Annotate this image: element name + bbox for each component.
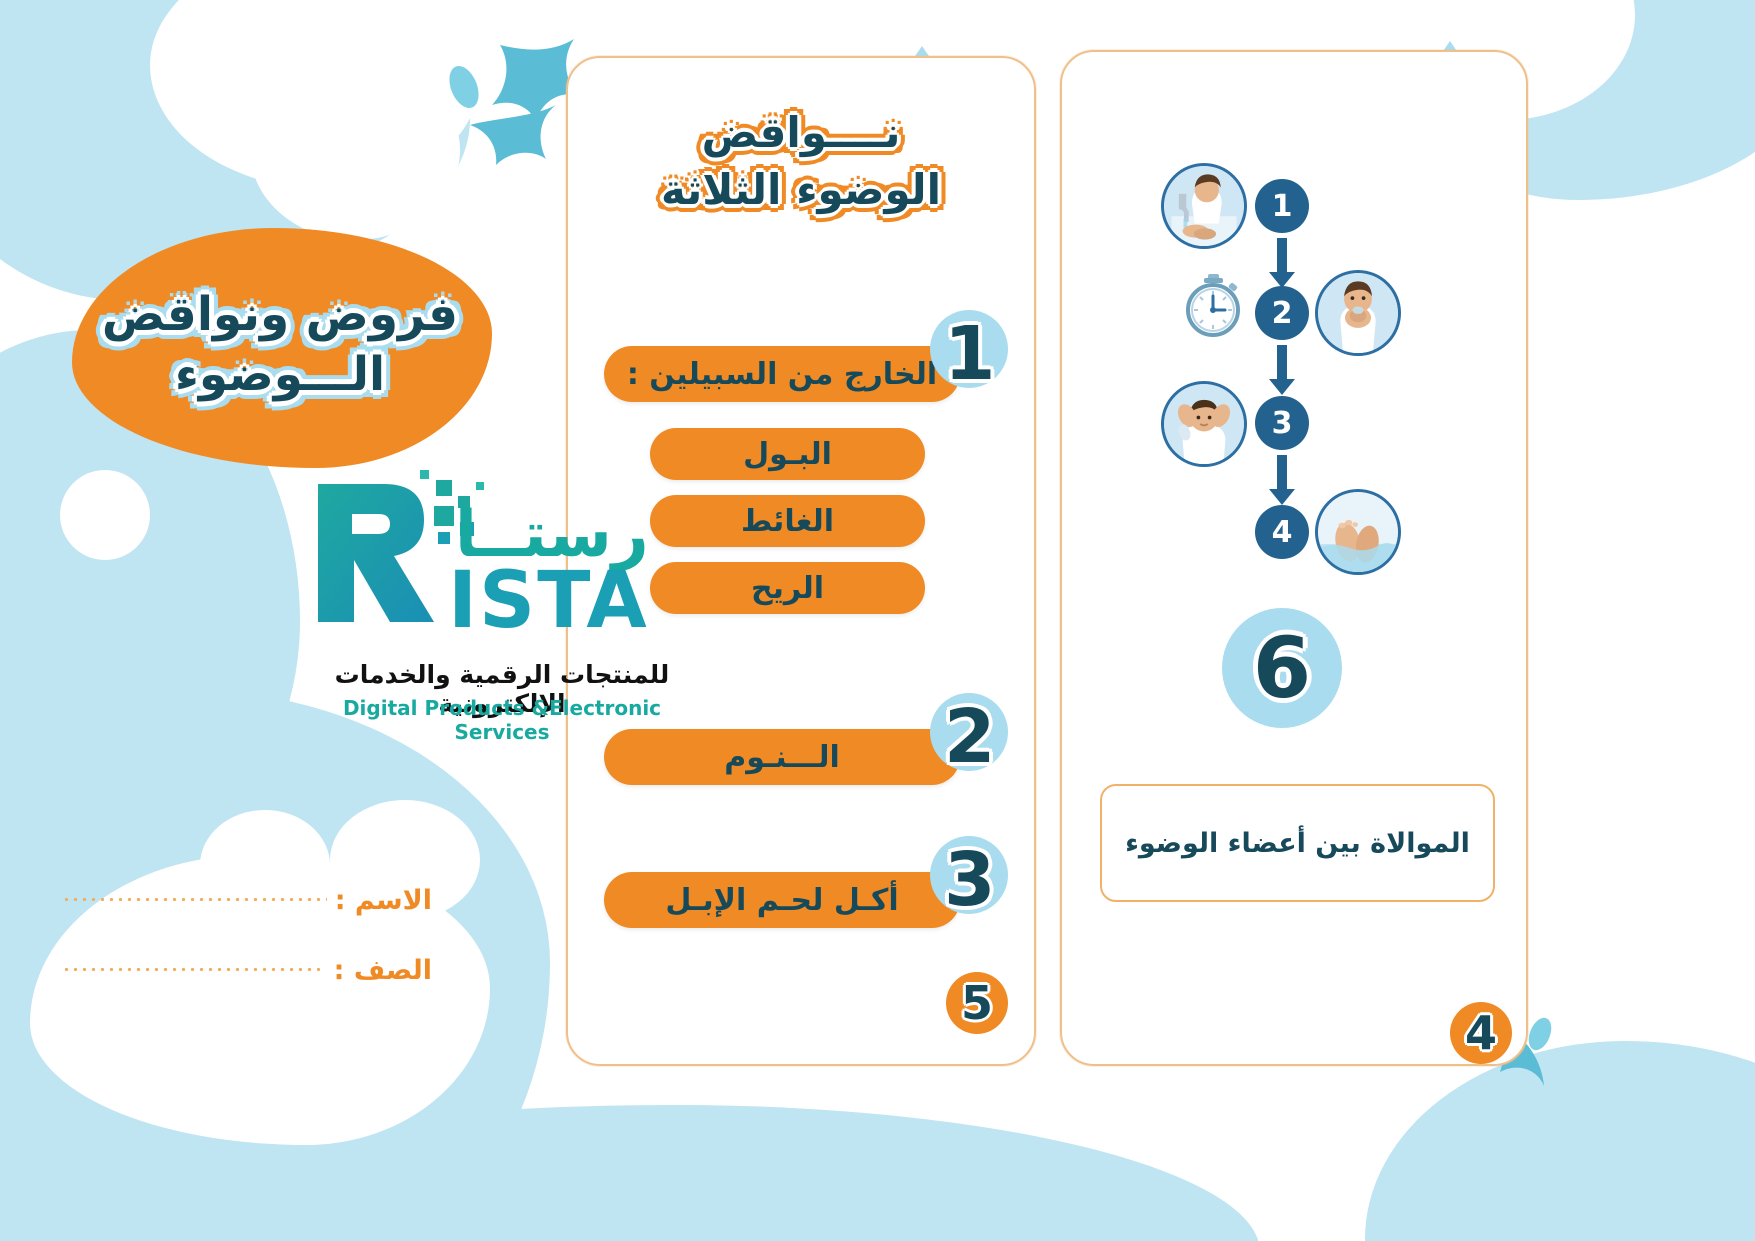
step-1-washing-hands-photo bbox=[1161, 163, 1247, 249]
step-number-2: 2 bbox=[1255, 286, 1309, 340]
student-class-field[interactable]: الصف : bbox=[62, 955, 432, 986]
student-name-label: الاسم : bbox=[335, 885, 432, 916]
step-arrow-3-to-4 bbox=[1277, 455, 1287, 491]
section-number-6: 6 bbox=[1222, 608, 1342, 728]
step-4-washing-feet-photo bbox=[1315, 489, 1401, 575]
section-number-2: 2 bbox=[944, 700, 996, 774]
page-title-line-1: فروض ونواقض bbox=[80, 285, 480, 345]
page-badge-5-number: 5 bbox=[946, 972, 1008, 1034]
nullifier-item-1-sub-3: الريح bbox=[650, 562, 925, 614]
cloud-bubble-3 bbox=[60, 470, 150, 560]
student-class-label: الصف : bbox=[334, 955, 432, 986]
page-title-line-2: الـــوضوء bbox=[80, 345, 480, 405]
step-number-1: 1 bbox=[1255, 179, 1309, 233]
student-name-field[interactable]: الاسم : bbox=[62, 885, 432, 916]
section-number-3: 3 bbox=[944, 843, 996, 917]
student-class-input-line[interactable] bbox=[62, 968, 326, 971]
page-number-badge-5: 5 bbox=[946, 972, 1008, 1034]
student-name-input-line[interactable] bbox=[62, 898, 327, 901]
step-arrow-1-to-2 bbox=[1277, 238, 1287, 274]
rista-logo-mark bbox=[300, 470, 530, 650]
wudu-note-text: الموالاة بين أعضاء الوضوء bbox=[1125, 828, 1470, 859]
page-badge-4-number: 4 bbox=[1450, 1002, 1512, 1064]
step-2-rinsing-mouth-photo bbox=[1315, 270, 1401, 356]
step-3-wiping-head-photo bbox=[1161, 381, 1247, 467]
stopwatch-icon bbox=[1180, 272, 1246, 338]
nullifiers-heading-line-2: الوضوء الثلاثة bbox=[596, 162, 1006, 219]
nullifier-item-1-label: الخارج من السبيلين : bbox=[604, 346, 960, 402]
step-arrow-2-to-3 bbox=[1277, 345, 1287, 381]
nullifiers-heading-line-1: نــــواقض bbox=[596, 105, 1006, 162]
nullifier-item-1-sub-2: الغائط bbox=[650, 495, 925, 547]
cloud-bubble-4 bbox=[250, 60, 460, 240]
page-title: فروض ونواقض الـــوضوء bbox=[80, 285, 480, 405]
page-number-badge-4: 4 bbox=[1420, 960, 1540, 1070]
nullifier-item-3-label: أكـل لحـم الإبـل bbox=[604, 872, 960, 928]
step-number-3: 3 bbox=[1255, 396, 1309, 450]
step-number-4: 4 bbox=[1255, 505, 1309, 559]
nullifier-item-1-sub-1: البـول bbox=[650, 428, 925, 480]
nullifier-item-2-label: الـــنـوم bbox=[604, 729, 960, 785]
nullifiers-card-heading: نــــواقض الوضوء الثلاثة bbox=[596, 105, 1006, 218]
worksheet-page: فروض ونواقض الـــوضوء الاسم : الصف : نــ… bbox=[0, 0, 1755, 1241]
section-number-1: 1 bbox=[944, 317, 996, 391]
wudu-note-box: الموالاة بين أعضاء الوضوء bbox=[1100, 784, 1495, 902]
